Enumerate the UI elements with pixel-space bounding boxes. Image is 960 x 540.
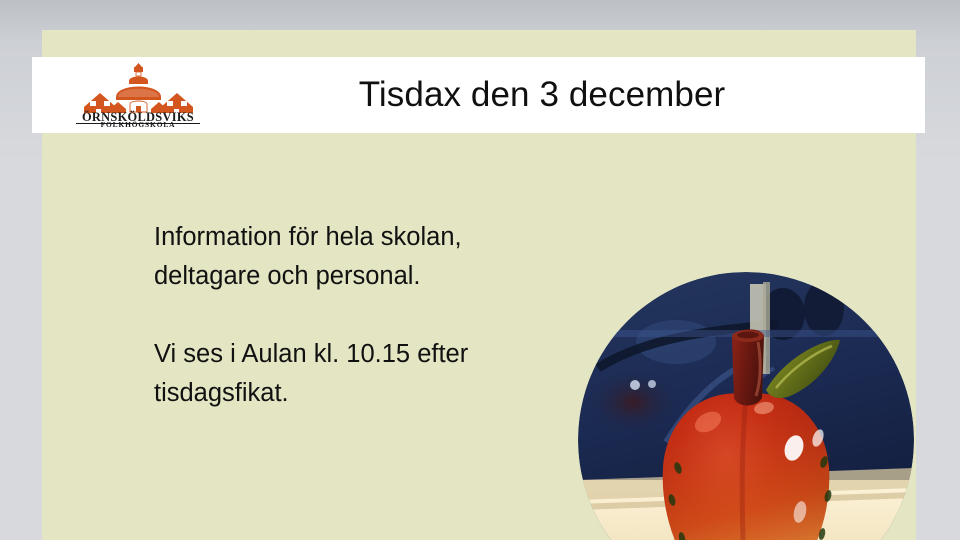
body-line-4: tisdagsfikat.	[154, 374, 574, 413]
logo-line-2: FOLKHÖGSKOLA	[101, 120, 176, 127]
body-line-1: Information för hela skolan,	[154, 218, 574, 257]
slide-title: Tisdax den 3 december	[212, 57, 872, 133]
ceramic-apple-photo	[578, 272, 914, 540]
slide-body-text: Information för hela skolan, deltagare o…	[154, 218, 574, 413]
ornskoldsviks-folkhogskola-logo: ÖRNSKÖLDSVIKS FOLKHÖGSKOLA	[66, 63, 211, 127]
slide-root: Information för hela skolan, deltagare o…	[0, 0, 960, 540]
paragraph-gap	[154, 296, 574, 335]
body-line-2: deltagare och personal.	[154, 257, 574, 296]
body-line-3: Vi ses i Aulan kl. 10.15 efter	[154, 335, 574, 374]
title-band: ÖRNSKÖLDSVIKS FOLKHÖGSKOLA Tisdax den 3 …	[32, 57, 925, 133]
